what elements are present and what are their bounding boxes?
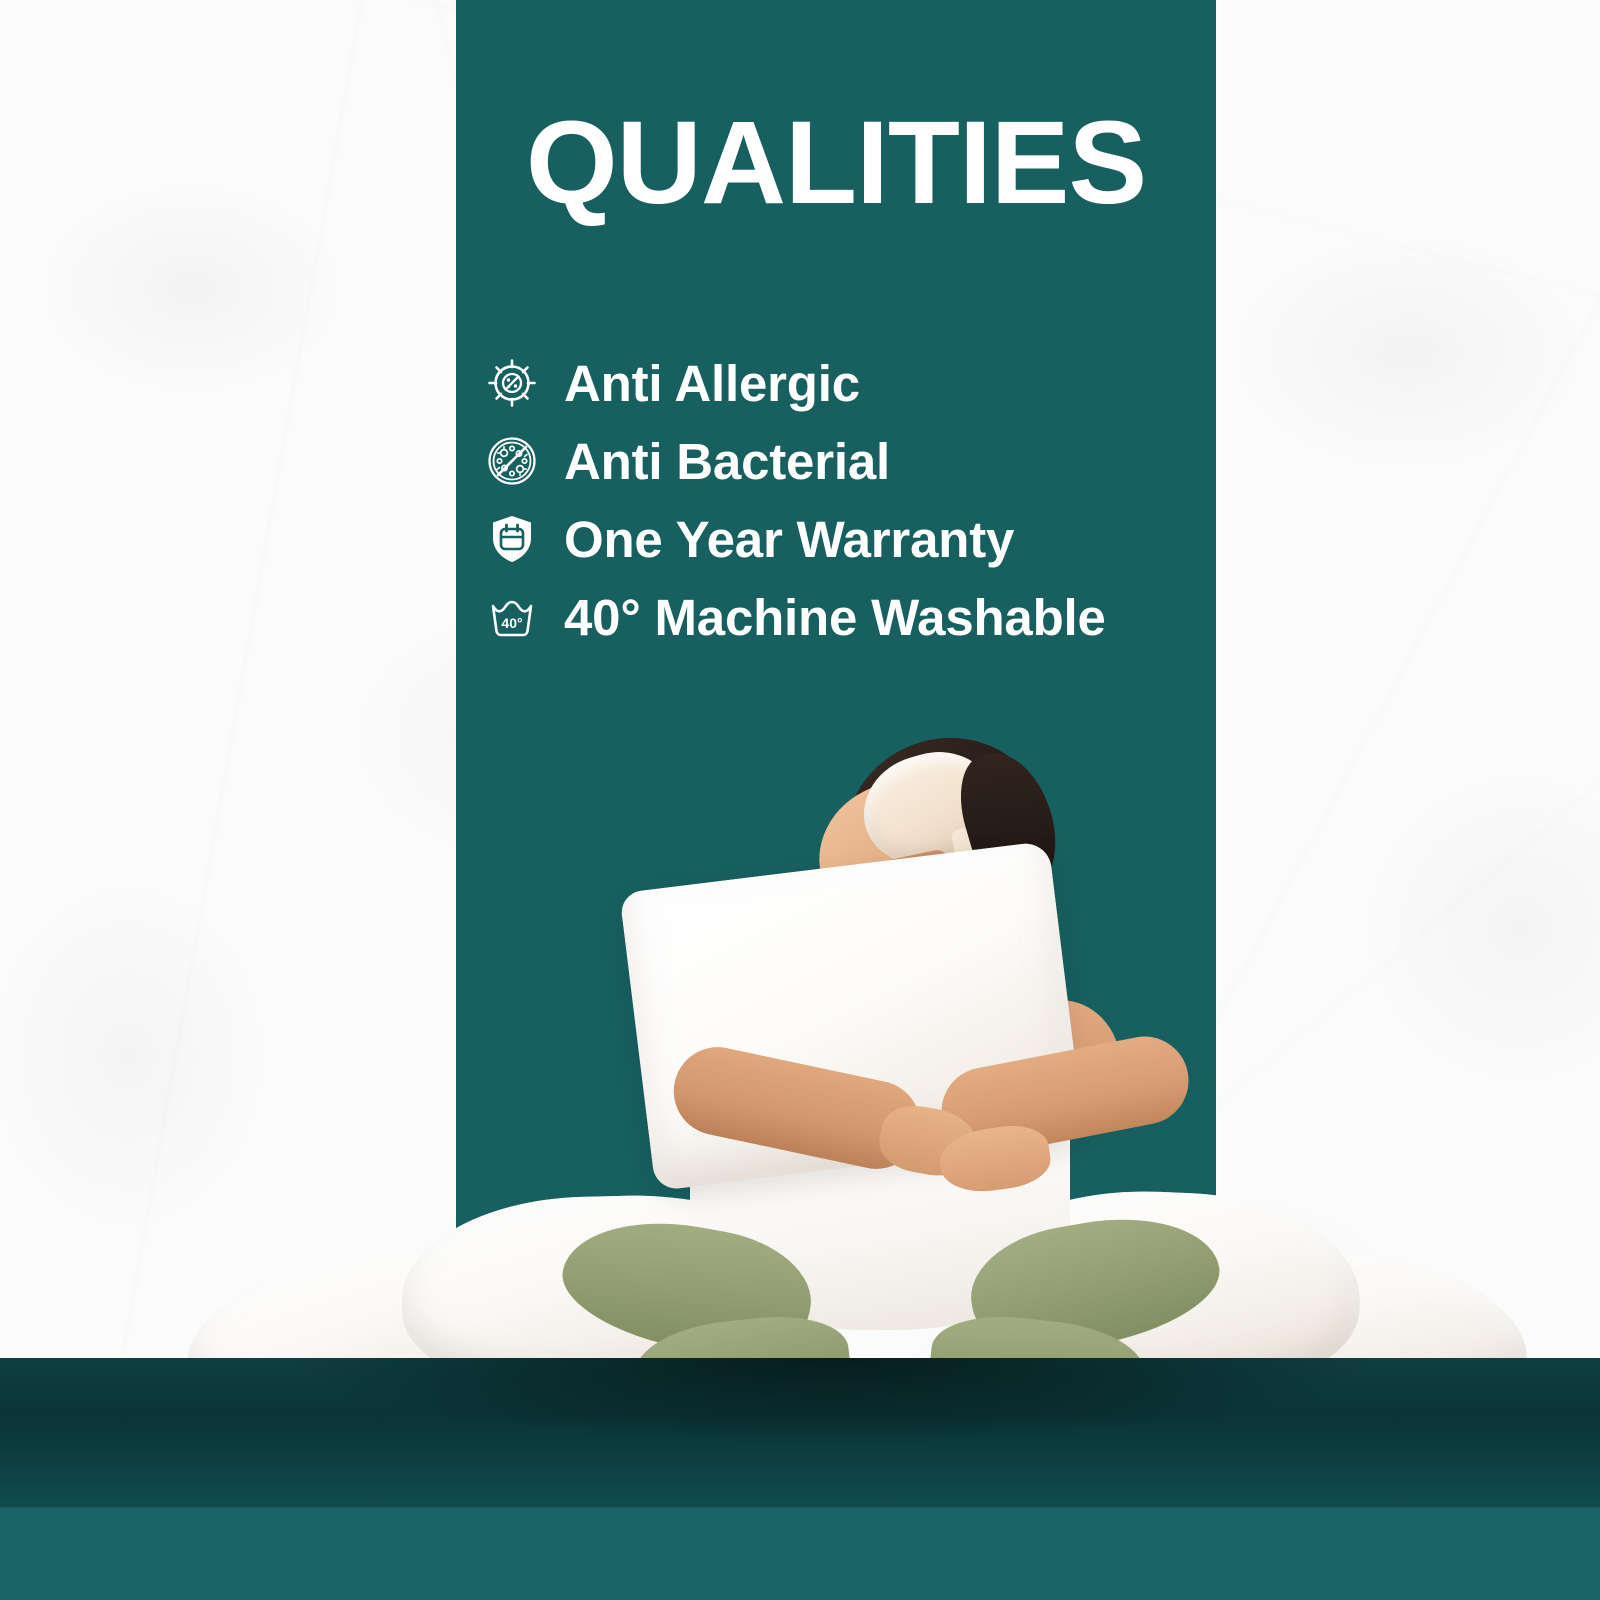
product-feature-banner: QUALITIES xyxy=(0,0,1600,1600)
footer-color-band xyxy=(0,1507,1600,1600)
floor-shadow xyxy=(0,1358,1600,1508)
